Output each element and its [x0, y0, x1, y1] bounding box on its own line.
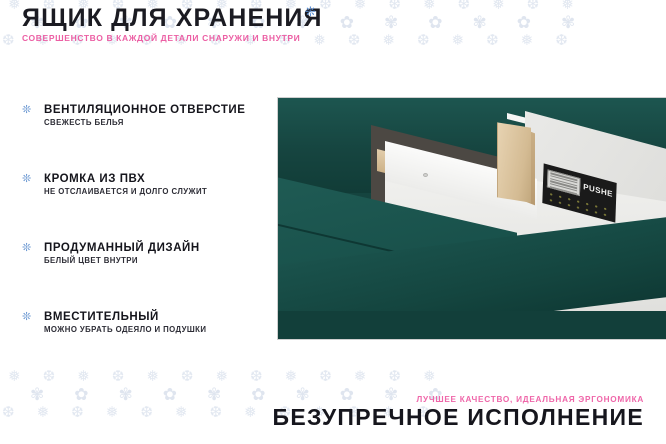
- snowflake-icon: ❊: [22, 243, 31, 254]
- snowflake-icon: ❆: [319, 366, 332, 388]
- flower-icon: ✾: [30, 384, 44, 406]
- snowflake-icon: ❆: [209, 402, 222, 424]
- snowflake-icon: ❅: [106, 402, 119, 424]
- snowflake-icon: ❅: [382, 30, 395, 52]
- snowflake-icon: ❆: [71, 402, 84, 424]
- snowflake-icon: ❆: [140, 402, 153, 424]
- flower-icon: ✿: [517, 12, 531, 34]
- snowflake-icon: ❆: [527, 0, 540, 16]
- snowflake-icon: ❅: [37, 402, 50, 424]
- flower-icon: ✿: [251, 384, 265, 406]
- feature-list: ❊ ВЕНТИЛЯЦИОННОЕ ОТВЕРСТИЕ СВЕЖЕСТЬ БЕЛЬ…: [22, 104, 267, 334]
- flower-icon: ✾: [207, 384, 221, 406]
- flower-icon: ✿: [74, 384, 88, 406]
- watermark-row: ❅ ❆ ❅ ❆ ❅ ❆ ❅ ❆ ❅ ❆ ❅ ❆ ❅: [0, 366, 666, 388]
- page-title: ЯЩИК ДЛЯ ХРАНЕНИЯ: [22, 6, 323, 32]
- feature-item-design: ❊ ПРОДУМАННЫЙ ДИЗАЙН БЕЛЫЙ ЦВЕТ ВНУТРИ: [22, 242, 267, 265]
- snowflake-icon: ❊: [22, 105, 31, 116]
- snowflake-icon: ❅: [354, 0, 367, 16]
- snowflake-icon: ❅: [492, 0, 505, 16]
- snowflake-icon: ❅: [175, 402, 188, 424]
- snowflake-icon: ❆: [555, 30, 568, 52]
- snowflake-icon: ❅: [285, 366, 298, 388]
- feature-subtitle: СВЕЖЕСТЬ БЕЛЬЯ: [44, 118, 267, 127]
- feature-title: ПРОДУМАННЫЙ ДИЗАЙН: [44, 242, 267, 254]
- snowflake-icon: ❅: [8, 366, 21, 388]
- product-photo: PUSHE: [277, 97, 666, 340]
- footer-headline: БЕЗУПРЕЧНОЕ ИСПОЛНЕНИЕ: [273, 406, 644, 430]
- snowflake-icon: ❆: [2, 402, 15, 424]
- banner-header: ЯЩИК ДЛЯ ХРАНЕНИЯ СОВЕРШЕНСТВО В КАЖДОЙ …: [22, 6, 323, 43]
- snowflake-icon: ❅: [8, 0, 21, 16]
- photo-screw: [423, 173, 428, 177]
- snowflake-icon: ❆: [348, 30, 361, 52]
- snowflake-icon: ❆: [181, 366, 194, 388]
- snowflake-icon: ❆: [43, 366, 56, 388]
- snowflake-icon: ❆: [112, 366, 125, 388]
- feature-title: ВМЕСТИТЕЛЬНЫЙ: [44, 311, 267, 323]
- feature-item-pvc-edge: ❊ КРОМКА ИЗ ПВХ НЕ ОТСЛАИВАЕТСЯ И ДОЛГО …: [22, 173, 267, 196]
- snowflake-icon: ❊: [22, 174, 31, 185]
- banner-footer: ЛУЧШЕЕ КАЧЕСТВО, ИДЕАЛЬНАЯ ЭРГОНОМИКА БЕ…: [273, 395, 644, 430]
- snowflake-icon: ❅: [423, 366, 436, 388]
- footer-kicker: ЛУЧШЕЕ КАЧЕСТВО, ИДЕАЛЬНАЯ ЭРГОНОМИКА: [273, 395, 644, 404]
- snowflake-icon: ❊: [305, 4, 316, 20]
- snowflake-icon: ❅: [146, 366, 159, 388]
- flower-icon: ✾: [384, 12, 398, 34]
- photo-lower-upholstery-2: [277, 311, 666, 340]
- page-subtitle: СОВЕРШЕНСТВО В КАЖДОЙ ДЕТАЛИ СНАРУЖИ И В…: [22, 33, 323, 43]
- snowflake-icon: ❆: [458, 0, 471, 16]
- snowflake-icon: ❅: [452, 30, 465, 52]
- feature-subtitle: НЕ ОТСЛАИВАЕТСЯ И ДОЛГО СЛУЖИТ: [44, 187, 267, 196]
- flower-icon: ✾: [119, 384, 133, 406]
- flower-icon: ✿: [428, 12, 442, 34]
- feature-subtitle: БЕЛЫЙ ЦВЕТ ВНУТРИ: [44, 256, 267, 265]
- snowflake-icon: ❆: [388, 0, 401, 16]
- snowflake-icon: ❅: [423, 0, 436, 16]
- snowflake-icon: ❊: [22, 312, 31, 323]
- feature-subtitle: МОЖНО УБРАТЬ ОДЕЯЛО И ПОДУШКИ: [44, 325, 267, 334]
- promo-banner: ❅ ❆ ❅ ❆ ❅ ❆ ❅ ❆ ❅ ❆ ❅ ❆ ❅ ❆ ❅ ❆ ❅ ✾ ✿ ✾ …: [0, 0, 666, 444]
- photo-wood-post: [497, 122, 531, 202]
- flower-icon: ✾: [473, 12, 487, 34]
- snowflake-icon: ❆: [417, 30, 430, 52]
- snowflake-icon: ❆: [250, 366, 263, 388]
- snowflake-icon: ❅: [561, 0, 574, 16]
- snowflake-icon: ❅: [77, 366, 90, 388]
- feature-title: ВЕНТИЛЯЦИОННОЕ ОТВЕРСТИЕ: [44, 104, 267, 116]
- snowflake-icon: ❆: [388, 366, 401, 388]
- feature-item-capacity: ❊ ВМЕСТИТЕЛЬНЫЙ МОЖНО УБРАТЬ ОДЕЯЛО И ПО…: [22, 311, 267, 334]
- feature-title: КРОМКА ИЗ ПВХ: [44, 173, 267, 185]
- feature-item-ventilation: ❊ ВЕНТИЛЯЦИОННОЕ ОТВЕРСТИЕ СВЕЖЕСТЬ БЕЛЬ…: [22, 104, 267, 127]
- flower-icon: ✿: [340, 12, 354, 34]
- brand-name: PUSHE: [583, 182, 613, 199]
- snowflake-icon: ❅: [215, 366, 228, 388]
- snowflake-icon: ❅: [354, 366, 367, 388]
- snowflake-icon: ❅: [244, 402, 257, 424]
- flower-icon: ✾: [561, 12, 575, 34]
- flower-icon: ✿: [163, 384, 177, 406]
- snowflake-icon: ❅: [521, 30, 534, 52]
- snowflake-icon: ❆: [486, 30, 499, 52]
- snowflake-icon: ❆: [2, 30, 15, 52]
